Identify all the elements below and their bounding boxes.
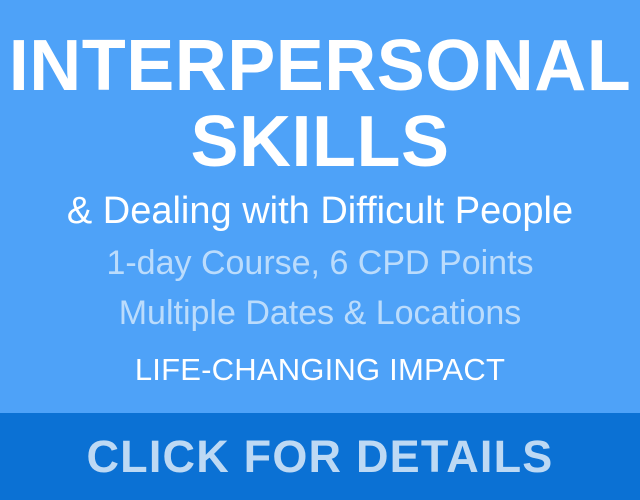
banner-content: INTERPERSONAL SKILLS & Dealing with Diff… [0, 0, 640, 413]
cta-button[interactable]: CLICK FOR DETAILS [0, 413, 640, 500]
subheadline: & Dealing with Difficult People [67, 188, 573, 234]
cta-label: CLICK FOR DETAILS [86, 432, 553, 482]
tagline: LIFE-CHANGING IMPACT [135, 352, 505, 388]
advertisement-banner[interactable]: INTERPERSONAL SKILLS & Dealing with Diff… [0, 0, 640, 500]
detail-line-dates-locations: Multiple Dates & Locations [119, 288, 522, 338]
detail-line-course-info: 1-day Course, 6 CPD Points [106, 238, 533, 288]
headline-line-2: SKILLS [190, 105, 449, 179]
headline-line-1: INTERPERSONAL [9, 27, 632, 105]
